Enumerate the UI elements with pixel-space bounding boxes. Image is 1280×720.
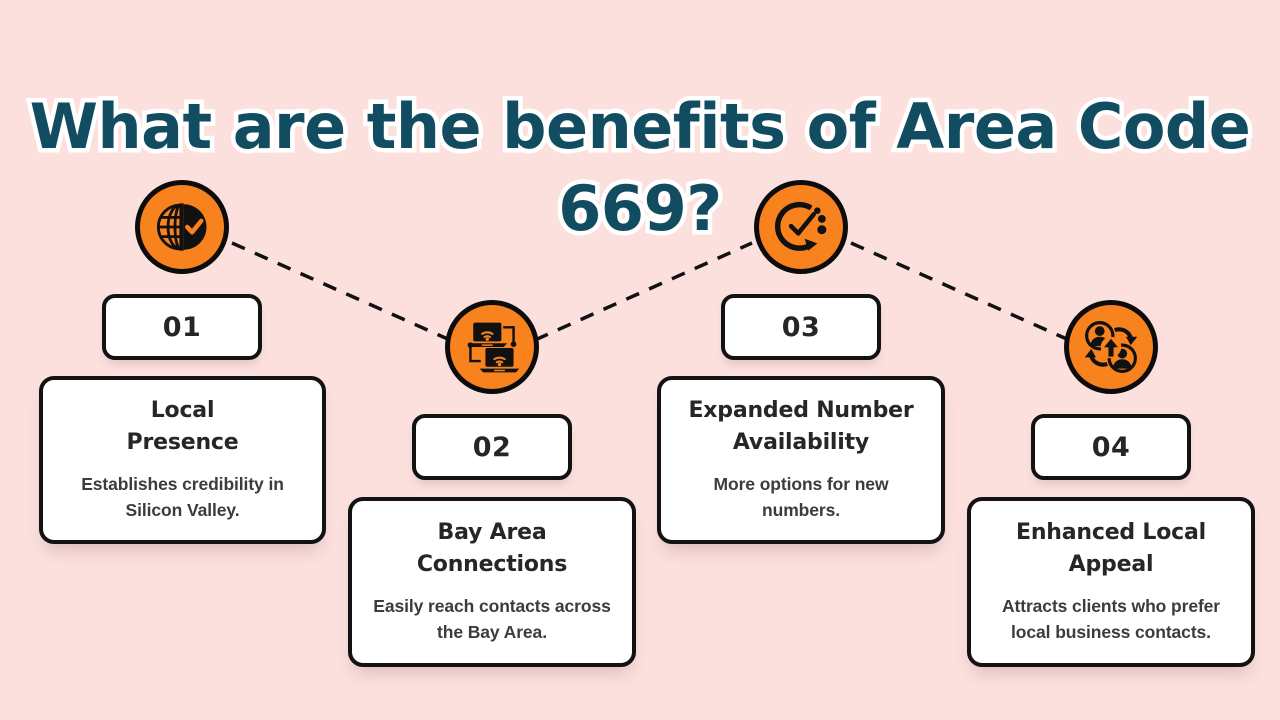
step-2-body: Easily reach contacts across the Bay Are… (368, 593, 616, 645)
step-2-card[interactable]: Bay Area Connections Easily reach contac… (348, 497, 636, 667)
step-4-card[interactable]: Enhanced Local Appeal Attracts clients w… (967, 497, 1255, 667)
globe-check-icon (154, 199, 210, 255)
people-exchange-arrows-icon (1081, 317, 1141, 377)
networked-laptops-wifi-icon (462, 317, 522, 377)
infographic-canvas: What are the benefits of Area Code 669? (0, 0, 1280, 720)
step-1-title: Local Presence (127, 395, 239, 459)
step-1-body: Establishes credibility in Silicon Valle… (59, 471, 306, 523)
connector-1-2 (232, 243, 450, 340)
step-2-title: Bay Area Connections (417, 517, 567, 581)
circular-arrow-check-icon (772, 198, 830, 256)
step-4-body: Attracts clients who prefer local busine… (987, 593, 1235, 645)
step-1-card[interactable]: Local Presence Establishes credibility i… (39, 376, 326, 544)
step-3-title: Expanded Number Availability (688, 395, 913, 459)
step-3-card[interactable]: Expanded Number Availability More option… (657, 376, 945, 544)
step-4-title: Enhanced Local Appeal (1016, 517, 1206, 581)
step-4-number-badge[interactable]: 04 (1031, 414, 1191, 480)
step-3-body: More options for new numbers. (677, 471, 925, 523)
step-1-number-badge[interactable]: 01 (102, 294, 262, 360)
step-1-icon-circle[interactable] (135, 180, 229, 274)
step-4-icon-circle[interactable] (1064, 300, 1158, 394)
step-2-number-badge[interactable]: 02 (412, 414, 572, 480)
step-3-icon-circle[interactable] (754, 180, 848, 274)
step-2-icon-circle[interactable] (445, 300, 539, 394)
step-3-number-badge[interactable]: 03 (721, 294, 881, 360)
connector-2-3 (535, 243, 752, 340)
connector-3-4 (851, 243, 1069, 340)
